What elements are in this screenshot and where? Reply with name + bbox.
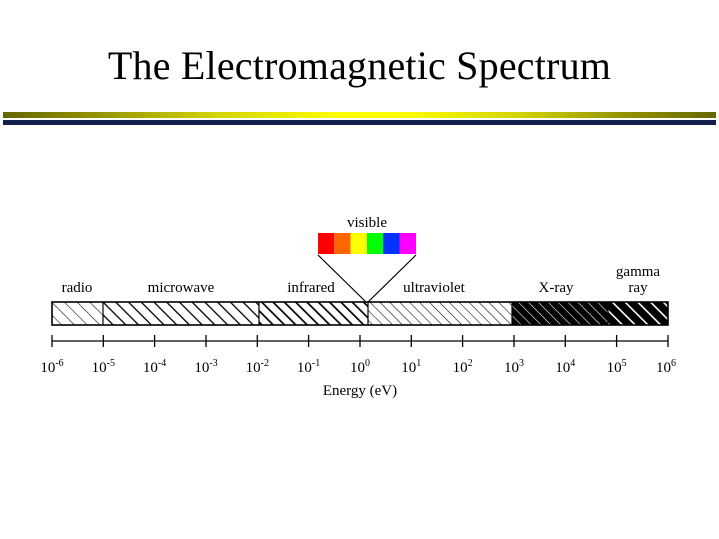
spectrum-bar — [52, 302, 668, 325]
color-swatch-yellow — [351, 233, 367, 254]
axis-tick-label-5: 10-1 — [297, 358, 320, 376]
band-label-gamma-line1: gamma — [616, 264, 660, 280]
energy-axis: 10-6 10-5 10-4 10-3 10-2 10-1 100 101 10… — [40, 335, 676, 399]
band-label-gamma-line2: ray — [628, 280, 648, 296]
band-label-ultraviolet: ultraviolet — [403, 280, 465, 296]
axis-tick-label-7: 101 — [401, 358, 421, 376]
visible-label: visible — [347, 215, 387, 231]
axis-title-energy: Energy (eV) — [323, 383, 397, 399]
color-swatch-blue — [383, 233, 399, 254]
axis-tick-label-9: 103 — [504, 358, 524, 376]
axis-tick-label-6: 100 — [350, 358, 370, 376]
axis-tick-label-4: 10-2 — [246, 358, 269, 376]
axis-tick-label-0: 10-6 — [40, 358, 63, 376]
visible-color-bar — [318, 233, 416, 254]
band-label-infrared: infrared — [287, 280, 335, 296]
spectrum-diagram: visible radio microwave infrared ultravi… — [0, 200, 719, 410]
axis-tick-label-8: 102 — [453, 358, 473, 376]
axis-tick-label-10: 104 — [555, 358, 575, 376]
color-swatch-red — [318, 233, 334, 254]
spectrum-band-microwave[interactable] — [103, 302, 259, 325]
band-label-xray: X-ray — [539, 280, 574, 296]
spectrum-band-xray[interactable] — [512, 302, 608, 325]
band-label-microwave: microwave — [148, 280, 215, 296]
band-label-radio: radio — [62, 280, 93, 296]
color-swatch-green — [367, 233, 383, 254]
spectrum-figure: visible radio microwave infrared ultravi… — [0, 200, 719, 410]
title-divider — [3, 112, 716, 126]
spectrum-band-ultraviolet[interactable] — [368, 302, 512, 325]
axis-tick-labels: 10-6 10-5 10-4 10-3 10-2 10-1 100 101 10… — [40, 358, 676, 376]
divider-navy-bar — [3, 120, 716, 125]
axis-tick-label-3: 10-3 — [194, 358, 217, 376]
spectrum-band-infrared[interactable] — [259, 302, 368, 325]
band-labels: radio microwave infrared ultraviolet X-r… — [62, 264, 661, 296]
axis-tick-label-2: 10-4 — [143, 358, 166, 376]
page-title: The Electromagnetic Spectrum — [0, 44, 719, 88]
divider-gradient-bar — [3, 112, 716, 118]
axis-tick-label-12: 106 — [656, 358, 676, 376]
spectrum-band-radio[interactable] — [52, 302, 103, 325]
color-swatch-orange — [334, 233, 350, 254]
spectrum-band-gamma-ray[interactable] — [608, 302, 668, 325]
axis-tick-label-1: 10-5 — [92, 358, 115, 376]
axis-tick-label-11: 105 — [607, 358, 627, 376]
color-swatch-violet — [400, 233, 417, 254]
